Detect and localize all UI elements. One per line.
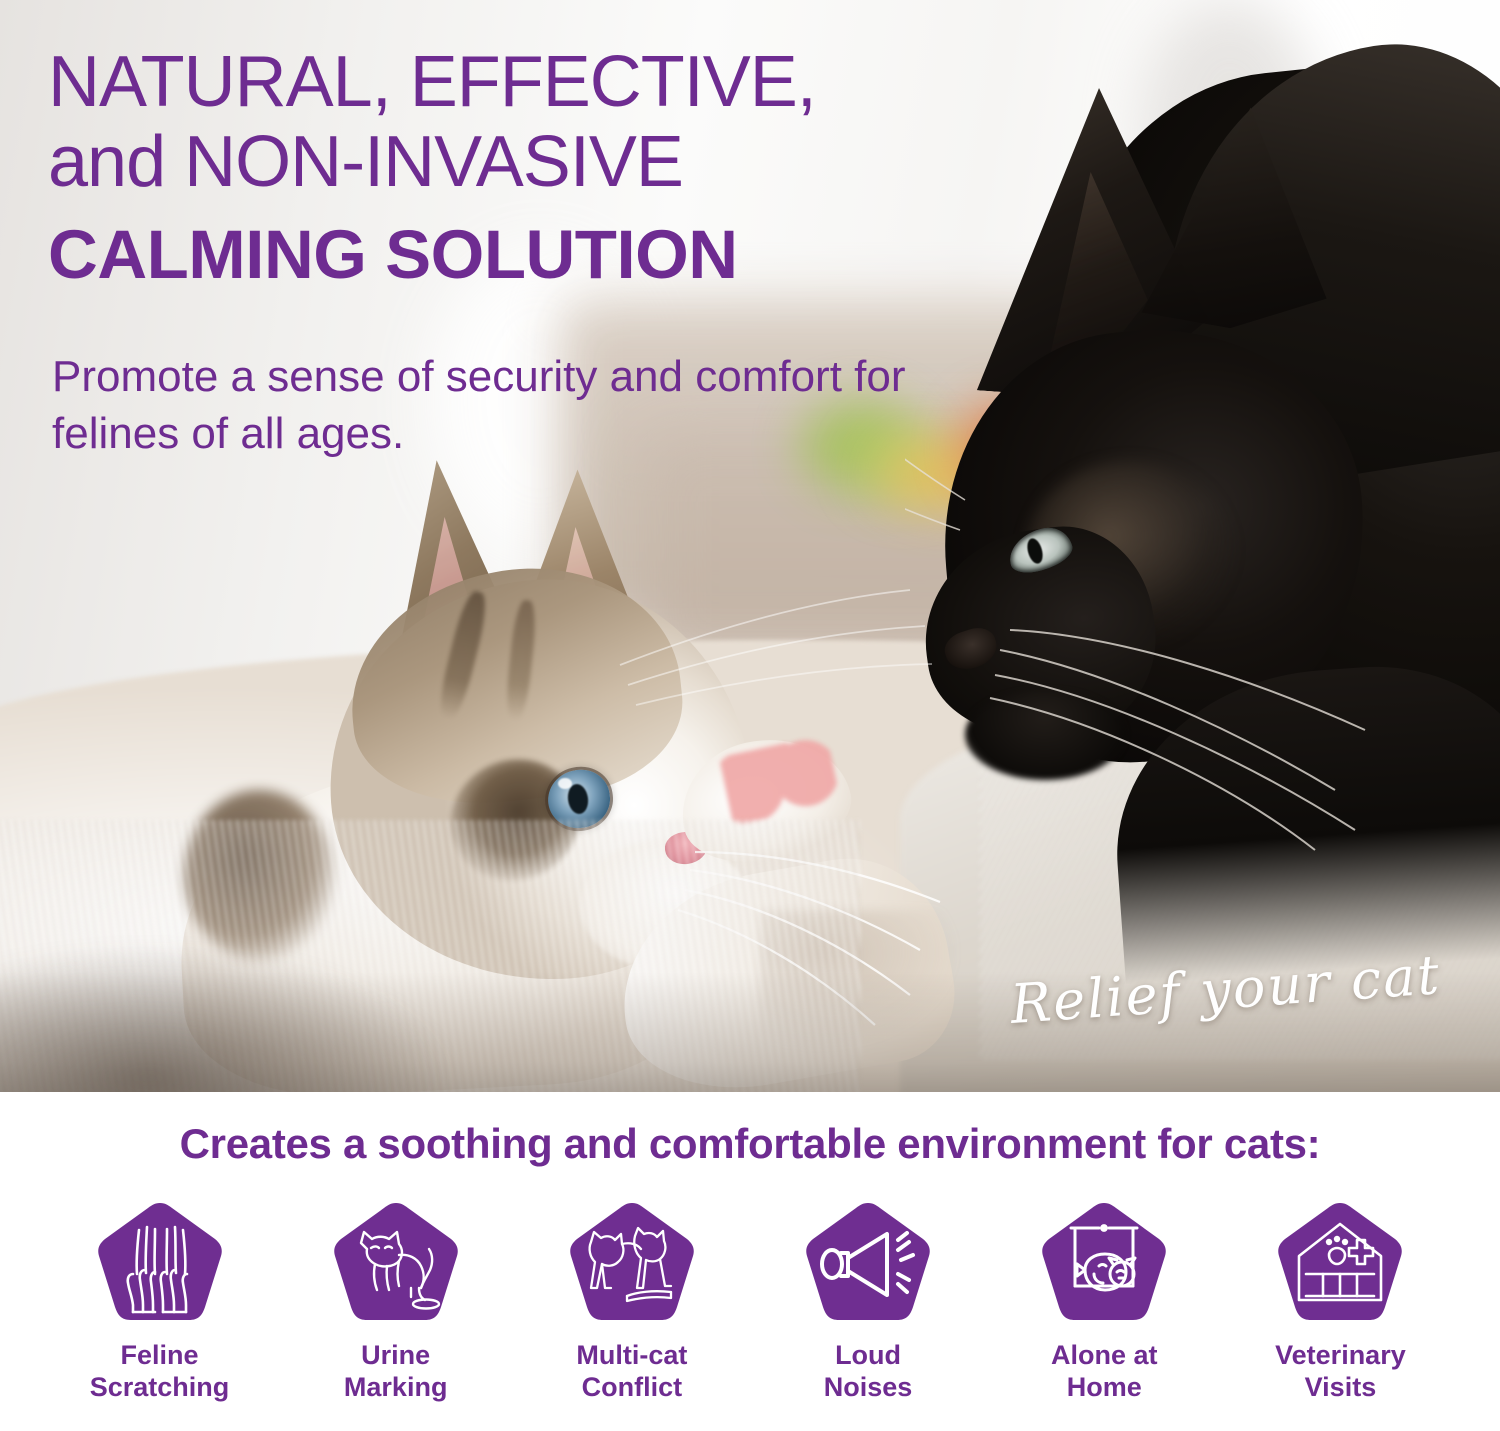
- badge-pentagon: [331, 1200, 461, 1326]
- cat-urine-marking-icon: [331, 1200, 461, 1326]
- benefit-label: Feline Scratching: [90, 1340, 230, 1404]
- benefit-item-multi-cat-conflict[interactable]: Multi-cat Conflict: [524, 1200, 739, 1404]
- benefits-badge-row: Feline Scratching: [52, 1200, 1448, 1404]
- benefit-label: Urine Marking: [344, 1340, 448, 1404]
- badge-pentagon: [1039, 1200, 1169, 1326]
- benefit-label: Veterinary Visits: [1275, 1340, 1406, 1404]
- veterinary-clinic-icon: [1275, 1200, 1405, 1326]
- badge-pentagon: [1275, 1200, 1405, 1326]
- benefit-label: Multi-cat Conflict: [576, 1340, 687, 1404]
- benefit-item-alone-at-home[interactable]: Alone at Home: [997, 1200, 1212, 1404]
- badge-pentagon: [567, 1200, 697, 1326]
- kitten-eye-highlight: [558, 778, 572, 789]
- headline-line-3: CALMING SOLUTION: [48, 220, 1008, 289]
- benefit-label: Alone at Home: [1051, 1340, 1158, 1404]
- photo-bottom-left-shadow: [0, 942, 460, 1092]
- hero-photo: NATURAL, EFFECTIVE, and NON-INVASIVE CAL…: [0, 0, 1500, 1092]
- badge-pentagon: [803, 1200, 933, 1326]
- headline-line-1: NATURAL, EFFECTIVE,: [48, 46, 1008, 118]
- benefit-item-loud-noises[interactable]: Loud Noises: [761, 1200, 976, 1404]
- megaphone-loud-noise-icon: [803, 1200, 933, 1326]
- benefit-label: Loud Noises: [824, 1340, 913, 1404]
- product-infographic: NATURAL, EFFECTIVE, and NON-INVASIVE CAL…: [0, 0, 1500, 1431]
- benefits-panel: Creates a soothing and comfortable envir…: [0, 1092, 1500, 1431]
- benefit-item-feline-scratching[interactable]: Feline Scratching: [52, 1200, 267, 1404]
- two-cats-conflict-icon: [567, 1200, 697, 1326]
- benefit-item-veterinary-visits[interactable]: Veterinary Visits: [1233, 1200, 1448, 1404]
- benefit-item-urine-marking[interactable]: Urine Marking: [288, 1200, 503, 1404]
- badge-pentagon: [95, 1200, 225, 1326]
- benefits-title: Creates a soothing and comfortable envir…: [0, 1120, 1500, 1168]
- hero-headline: NATURAL, EFFECTIVE, and NON-INVASIVE CAL…: [48, 46, 1008, 289]
- hero-subheadline: Promote a sense of security and comfort …: [52, 348, 952, 462]
- cat-alone-window-icon: [1039, 1200, 1169, 1326]
- cat-scratching-paws-icon: [95, 1200, 225, 1326]
- headline-line-2: and NON-INVASIVE: [48, 126, 1008, 198]
